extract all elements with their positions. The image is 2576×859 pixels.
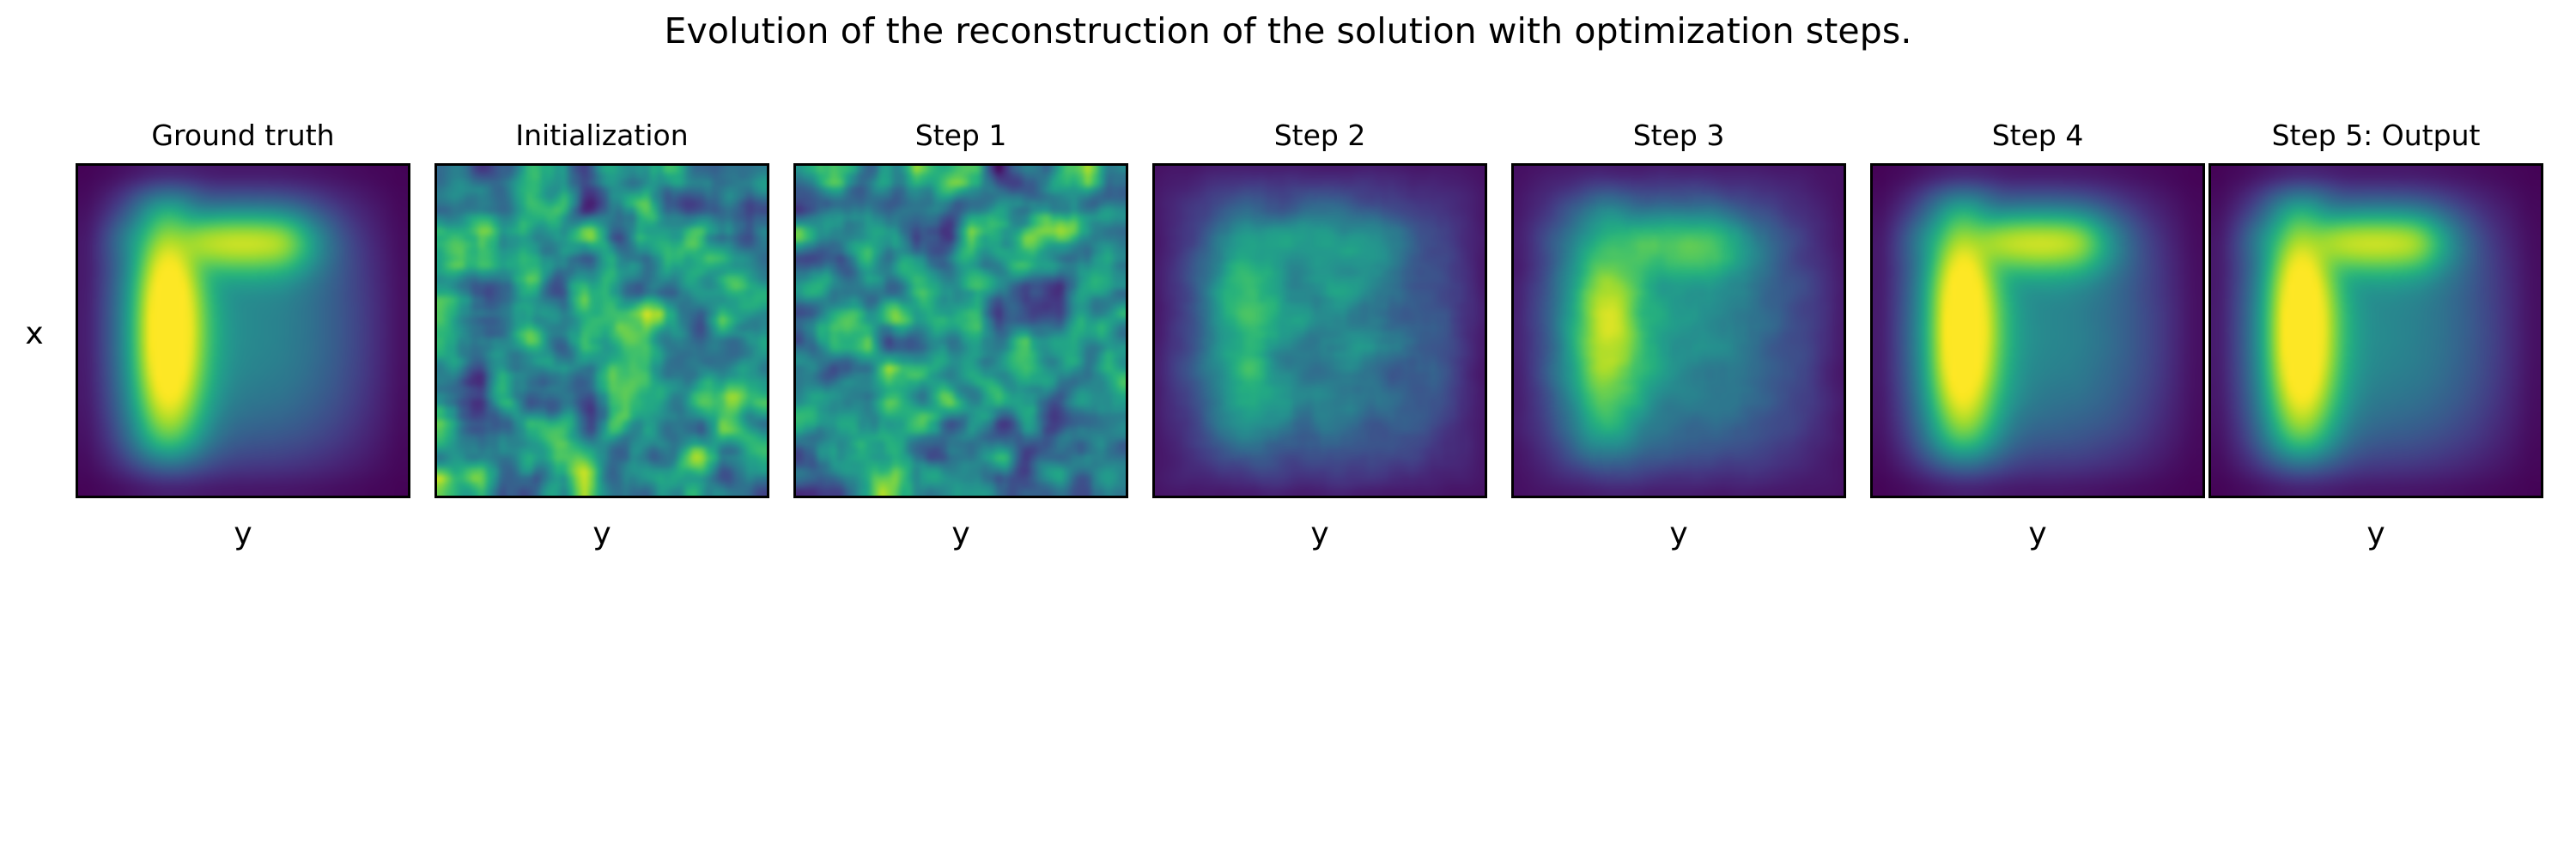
subplot-title: Step 2: [1152, 119, 1487, 152]
subplot-ground-truth: Ground truth y: [76, 163, 410, 498]
heatmap-image: [437, 166, 767, 496]
heatmap-image: [1155, 166, 1485, 496]
x-axis-label: y: [2208, 516, 2543, 551]
heatmap-axes: [1152, 163, 1487, 498]
x-axis-label: y: [1511, 516, 1846, 551]
heatmap-image: [1873, 166, 2202, 496]
subplot-step-1: Step 1 y: [793, 163, 1128, 498]
subplot-initialization: Initialization y: [434, 163, 769, 498]
x-axis-label: y: [76, 516, 410, 551]
heatmap-axes: [1511, 163, 1846, 498]
y-axis-label: x: [15, 316, 53, 351]
heatmap-image: [1514, 166, 1844, 496]
heatmap-axes: [76, 163, 410, 498]
heatmap-axes: [793, 163, 1128, 498]
subplot-title: Step 1: [793, 119, 1128, 152]
figure-canvas: Evolution of the reconstruction of the s…: [0, 0, 2576, 859]
heatmap-axes: [1870, 163, 2205, 498]
subplot-title: Step 4: [1870, 119, 2205, 152]
x-axis-label: y: [1870, 516, 2205, 551]
subplot-title: Step 3: [1511, 119, 1846, 152]
x-axis-label: y: [434, 516, 769, 551]
subplot-step-4: Step 4 y: [1870, 163, 2205, 498]
subplot-title: Initialization: [434, 119, 769, 152]
subplot-step-3: Step 3 y: [1511, 163, 1846, 498]
subplot-step-2: Step 2 y: [1152, 163, 1487, 498]
figure-suptitle: Evolution of the reconstruction of the s…: [0, 10, 2576, 52]
heatmap-axes: [434, 163, 769, 498]
x-axis-label: y: [793, 516, 1128, 551]
heatmap-image: [2211, 166, 2541, 496]
heatmap-image: [796, 166, 1126, 496]
subplot-step-5-output: Step 5: Output y: [2208, 163, 2543, 498]
subplot-title: Step 5: Output: [2208, 119, 2543, 152]
heatmap-image: [78, 166, 408, 496]
heatmap-axes: [2208, 163, 2543, 498]
subplot-title: Ground truth: [76, 119, 410, 152]
x-axis-label: y: [1152, 516, 1487, 551]
